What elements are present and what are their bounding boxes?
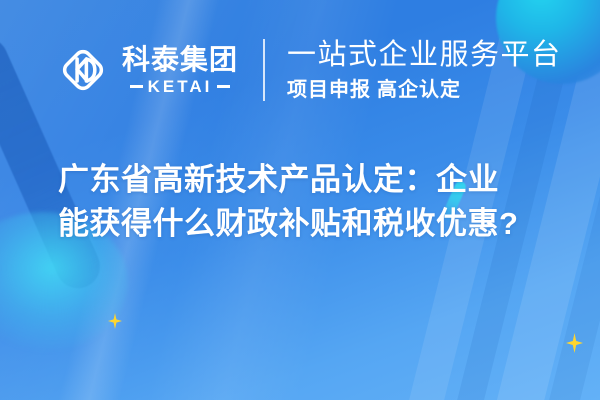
banner-header: 科泰集团 KETAI 一站式企业服务平台 项目申报 高企认定 — [0, 0, 600, 140]
brand-logo-wordmark: 科泰集团 KETAI — [122, 45, 238, 94]
sparkle-icon — [566, 333, 583, 353]
page-title: 广东省高新技术产品认定：企业能获得什么财政补贴和税收优惠? — [58, 158, 528, 246]
tagline-block: 一站式企业服务平台 项目申报 高企认定 — [287, 38, 562, 101]
header-divider — [263, 39, 265, 101]
tagline-secondary: 项目申报 高企认定 — [287, 78, 562, 102]
promo-banner: 科泰集团 KETAI 一站式企业服务平台 项目申报 高企认定 广东省高新技术产品… — [0, 0, 600, 400]
brand-name-en: KETAI — [148, 78, 213, 95]
logo-dash-left — [130, 85, 143, 88]
logo-dash-right — [217, 85, 230, 88]
ketai-diamond-monogram-icon — [56, 43, 110, 97]
tagline-primary: 一站式企业服务平台 — [287, 38, 562, 72]
brand-name-en-row: KETAI — [130, 78, 231, 95]
brand-name-cn: 科泰集团 — [122, 45, 238, 74]
sparkle-icon — [108, 313, 122, 329]
brand-logo: 科泰集团 KETAI — [56, 43, 238, 97]
